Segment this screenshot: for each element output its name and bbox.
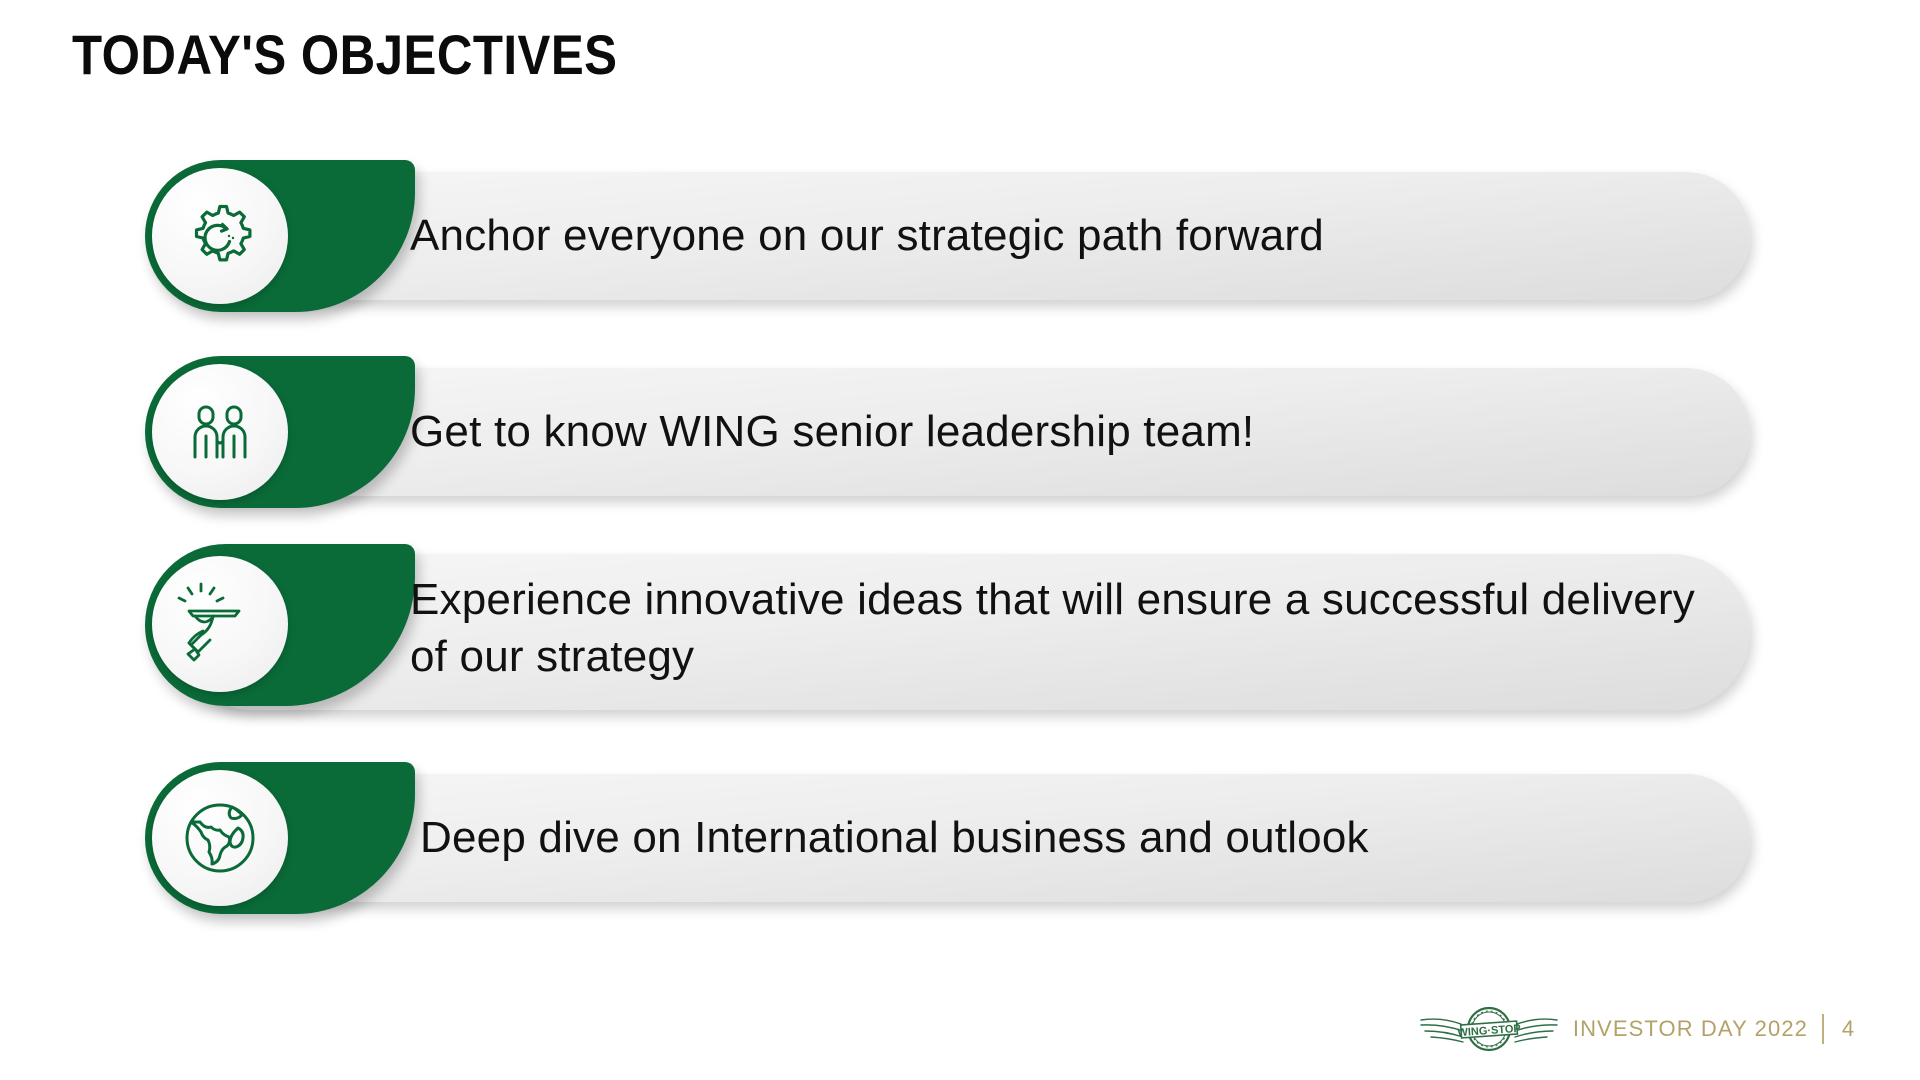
wingstop-wings-logo: WING·STOP bbox=[1419, 1000, 1559, 1058]
page-title: TODAY'S OBJECTIVES bbox=[72, 22, 617, 87]
globe-icon bbox=[152, 770, 288, 906]
footer-event-label: INVESTOR DAY 2022 bbox=[1573, 1016, 1808, 1042]
objective-row-3[interactable]: Experience innovative ideas that will en… bbox=[0, 542, 1920, 722]
page-number: 4 bbox=[1838, 1016, 1858, 1042]
hand-serving-tray-icon bbox=[152, 556, 288, 692]
objective-row-2[interactable]: Get to know WING senior leadership team! bbox=[0, 346, 1920, 496]
objective-row-1[interactable]: Anchor everyone on our strategic path fo… bbox=[0, 150, 1920, 300]
two-people-icon bbox=[152, 364, 288, 500]
objective-text-2: Get to know WING senior leadership team! bbox=[410, 346, 1700, 518]
objectives-list: Anchor everyone on our strategic path fo… bbox=[0, 150, 1920, 948]
gear-refresh-icon bbox=[152, 168, 288, 304]
footer-divider bbox=[1822, 1014, 1824, 1044]
objective-text-1: Anchor everyone on our strategic path fo… bbox=[410, 150, 1700, 322]
objective-row-4[interactable]: Deep dive on International business and … bbox=[0, 752, 1920, 902]
objective-text-3: Experience innovative ideas that will en… bbox=[410, 542, 1700, 714]
slide-footer: WING·STOP INVESTOR DAY 2022 4 bbox=[1419, 1000, 1858, 1058]
slide: TODAY'S OBJECTIVES Anchor everyone on ou… bbox=[0, 0, 1920, 1080]
objective-text-4: Deep dive on International business and … bbox=[420, 752, 1700, 924]
